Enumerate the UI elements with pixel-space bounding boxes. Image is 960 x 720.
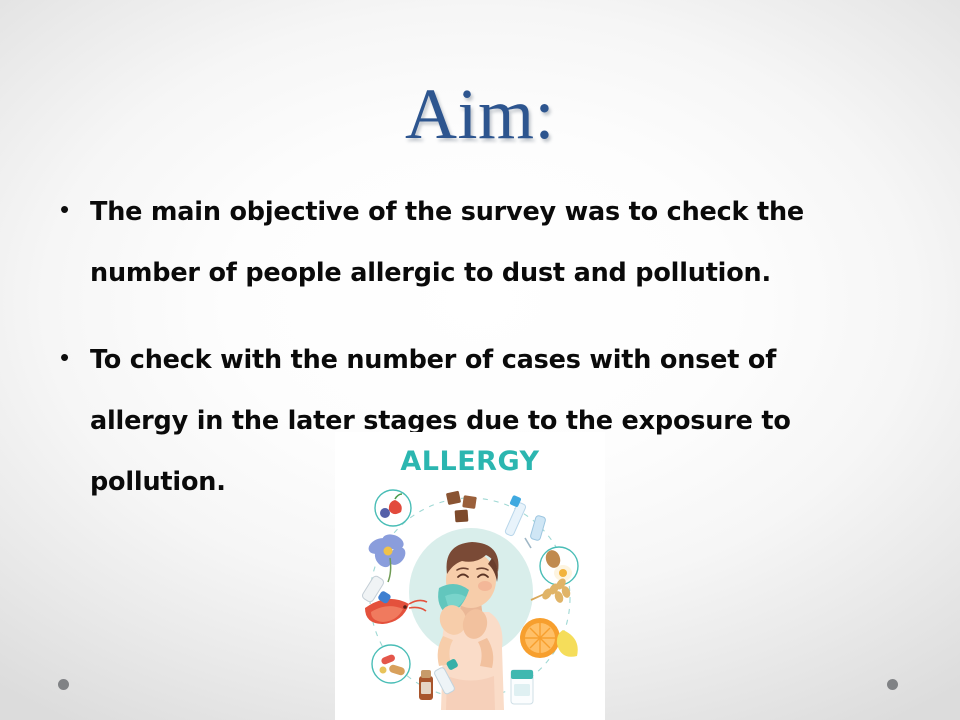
corner-dot-right-icon — [887, 679, 898, 690]
page-title: Aim: — [0, 78, 960, 150]
allergen-egg-and-nut — [540, 547, 578, 585]
cheek-blush — [478, 581, 492, 591]
illustration-heading: ALLERGY — [335, 446, 605, 477]
slide-canvas: Aim: • The main objective of the survey … — [0, 0, 960, 720]
allergen-dropper-bottle — [419, 670, 433, 700]
allergen-berries — [375, 490, 411, 526]
allergy-illustration-image — [335, 480, 605, 720]
allergen-chocolate — [446, 491, 477, 523]
shirt-shade — [446, 676, 495, 710]
allergen-citrus-orange-lemon — [520, 618, 578, 658]
allergen-syringe-medication — [504, 495, 546, 548]
corner-dot-left-icon — [58, 679, 69, 690]
allergen-flower-pollen — [366, 532, 409, 582]
list-item: • The main objective of the survey was t… — [52, 182, 908, 304]
bullet-marker-icon: • — [52, 182, 90, 236]
bullet-text: The main objective of the survey was to … — [90, 182, 880, 304]
allergen-pills-capsules — [372, 645, 410, 683]
allergen-inhaler — [361, 575, 392, 605]
bullet-marker-icon: • — [52, 330, 90, 384]
allergen-pill-bottle — [511, 670, 533, 704]
allergy-illustration-panel: ALLERGY — [335, 432, 605, 720]
